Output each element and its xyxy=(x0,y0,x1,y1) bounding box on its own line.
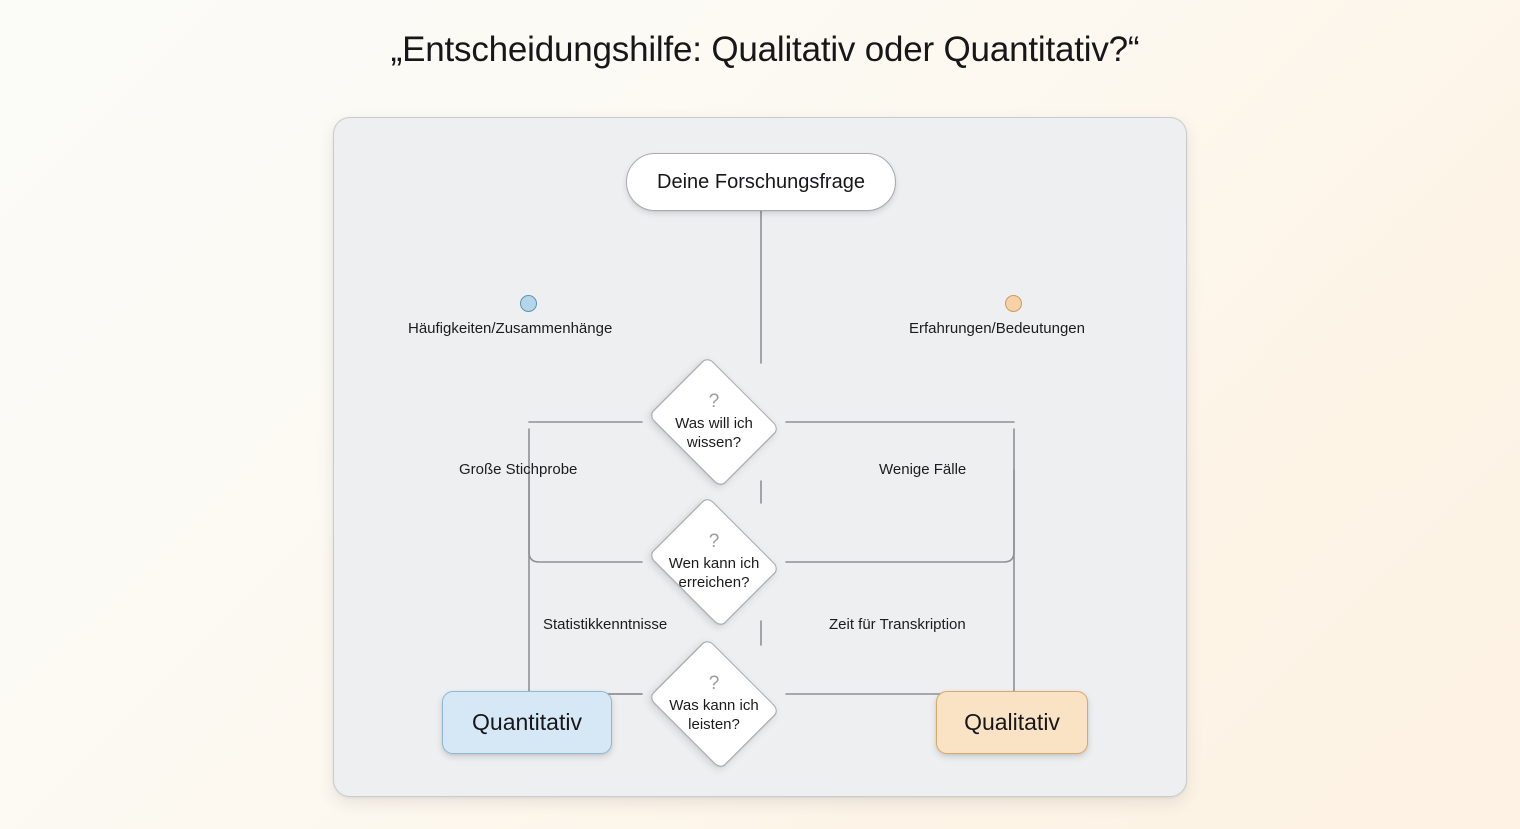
decision-label-line2: erreichen? xyxy=(679,574,750,593)
edge-right-branch-to-decision2 xyxy=(786,429,1014,562)
result-box-quantitativ[interactable]: Quantitativ xyxy=(442,691,612,754)
endpoint-dot-quantitative[interactable] xyxy=(520,295,537,312)
decision-label-line2: leisten? xyxy=(688,716,740,735)
endpoint-dot-qualitative[interactable] xyxy=(1005,295,1022,312)
decision-label-line1: Was kann ich xyxy=(669,697,758,716)
edge-label-erfahrungen-bedeutungen: Erfahrungen/Bedeutungen xyxy=(909,320,1085,337)
start-node-label: Deine Forschungsfrage xyxy=(657,171,865,194)
result-box-qualitativ[interactable]: Qualitativ xyxy=(936,691,1088,754)
decision-node-was-kann-ich-leisten[interactable]: ? Was kann ich leisten? xyxy=(642,645,786,763)
decision-label-line2: wissen? xyxy=(687,434,741,453)
edge-label-haeufigkeiten-zusammenhaenge: Häufigkeiten/Zusammenhänge xyxy=(408,320,612,337)
diamond-content: ? Was will ich wissen? xyxy=(642,363,786,481)
edge-label-statistikkenntnisse: Statistikkenntnisse xyxy=(543,616,667,633)
edge-left-branch-to-decision2 xyxy=(529,429,642,562)
decision-node-wen-kann-ich-erreichen[interactable]: ? Wen kann ich erreichen? xyxy=(642,503,786,621)
diamond-content: ? Was kann ich leisten? xyxy=(642,645,786,763)
diamond-content: ? Wen kann ich erreichen? xyxy=(642,503,786,621)
diagram-card: Deine Forschungsfrage ? Was will ich wis… xyxy=(333,117,1187,797)
decision-label-line1: Wen kann ich xyxy=(669,555,760,574)
start-node-forschungsfrage[interactable]: Deine Forschungsfrage xyxy=(626,153,896,211)
edge-label-wenige-faelle: Wenige Fälle xyxy=(879,461,966,478)
decision-label-line1: Was will ich xyxy=(675,415,753,434)
edge-label-grosse-stichprobe: Große Stichprobe xyxy=(459,461,577,478)
decision-node-was-will-ich-wissen[interactable]: ? Was will ich wissen? xyxy=(642,363,786,481)
question-mark-icon: ? xyxy=(709,674,720,693)
result-label-qualitativ: Qualitativ xyxy=(964,709,1060,736)
question-mark-icon: ? xyxy=(709,392,720,411)
edge-label-zeit-fuer-transkription: Zeit für Transkription xyxy=(829,616,966,633)
page-title: „Entscheidungshilfe: Qualitativ oder Qua… xyxy=(0,28,1520,72)
result-label-quantitativ: Quantitativ xyxy=(472,709,582,736)
question-mark-icon: ? xyxy=(709,532,720,551)
